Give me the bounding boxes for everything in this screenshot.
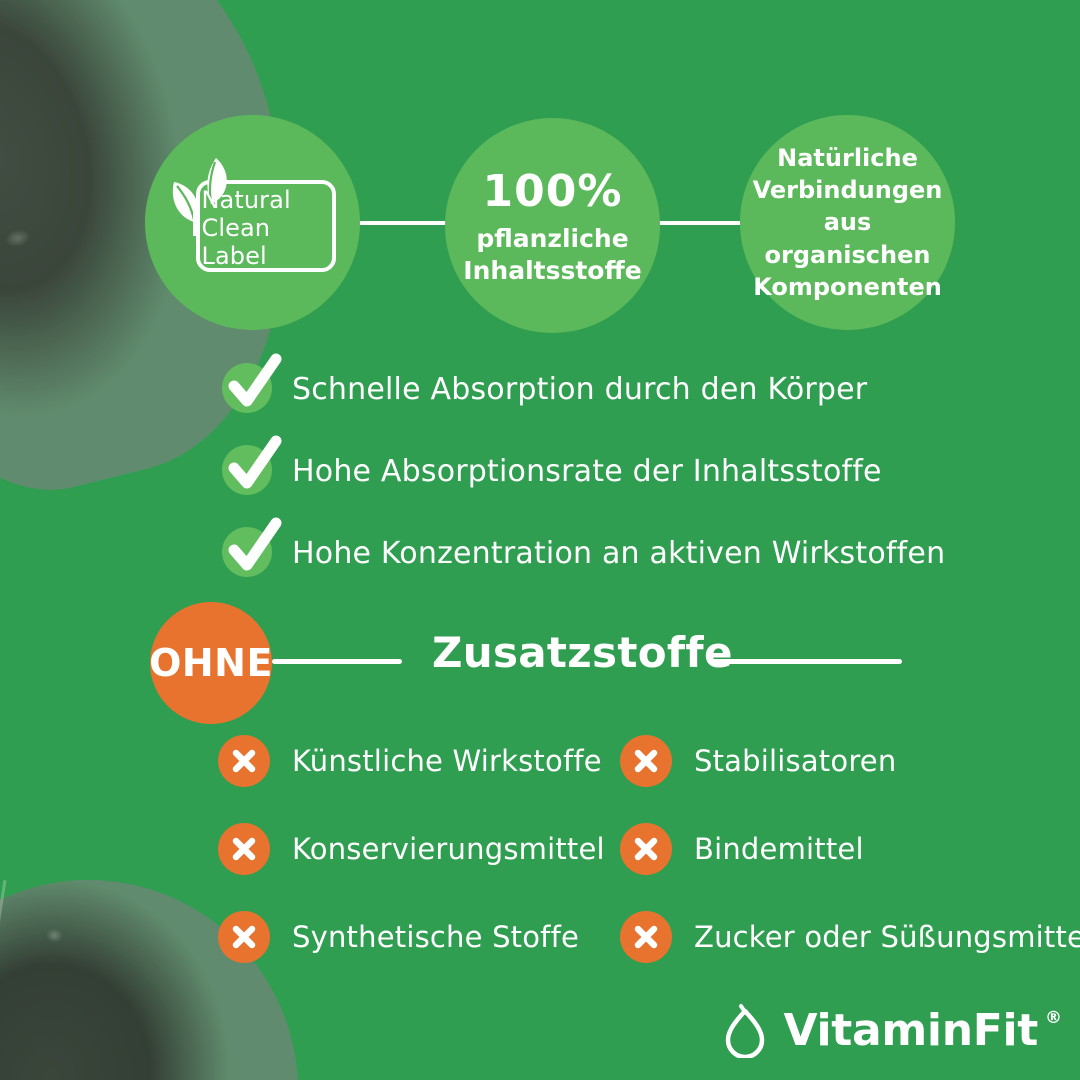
excluded-label: Zucker oder Süßungsmittel — [694, 920, 1080, 954]
x-disc — [620, 823, 672, 875]
brand-name: VitaminFit — [783, 1005, 1038, 1056]
divider-line-left — [272, 659, 402, 664]
without-section-title: Zusatzstoffe — [432, 628, 733, 677]
excluded-row: Künstliche Wirkstoffe Stabilisatoren — [0, 735, 1080, 823]
x-disc — [218, 735, 270, 787]
water-drop-icon — [719, 1002, 771, 1058]
benefit-label: Hohe Absorptionsrate der Inhaltsstoffe — [292, 454, 882, 489]
benefit-row: Schnelle Absorption durch den Körper — [0, 348, 1080, 430]
benefit-label: Schnelle Absorption durch den Körper — [292, 372, 867, 407]
compounds-line-3: aus organischen — [748, 206, 948, 270]
excluded-row: Synthetische Stoffe Zucker oder Süßungsm… — [0, 911, 1080, 999]
circle-natural-clean-label: Natural Clean Label — [145, 115, 360, 330]
connector-line-2 — [655, 221, 745, 225]
feature-circle-row: Natural Clean Label 100% pflanzliche Inh… — [0, 0, 1080, 350]
excluded-item: Künstliche Wirkstoffe — [218, 735, 602, 787]
plant-based-content: 100% pflanzliche Inhaltsstoffe — [463, 164, 641, 287]
check-icon — [224, 516, 284, 580]
excluded-label: Bindemittel — [694, 832, 864, 866]
benefit-row: Hohe Konzentration an aktiven Wirkstoffe… — [0, 512, 1080, 594]
ohne-badge: OHNE — [150, 602, 272, 724]
compounds-line-4: Komponenten — [748, 271, 948, 303]
x-disc — [620, 735, 672, 787]
compounds-line-1: Natürliche — [748, 142, 948, 174]
x-icon — [229, 922, 259, 952]
percent-sub-line-2: Inhaltsstoffe — [463, 255, 641, 287]
natural-compounds-content: Natürliche Verbindungen aus organischen … — [748, 142, 948, 303]
badge-text: Natural Clean Label — [202, 186, 330, 271]
badge-line-1: Natural — [202, 186, 330, 214]
compounds-line-2: Verbindungen — [748, 174, 948, 206]
brand-logo: VitaminFit ® — [719, 1002, 1062, 1058]
x-disc — [218, 823, 270, 875]
excluded-item: Synthetische Stoffe — [218, 911, 579, 963]
excluded-item: Stabilisatoren — [620, 735, 896, 787]
trademark-symbol: ® — [1045, 1008, 1062, 1028]
divider-line-right — [710, 659, 902, 664]
excluded-item: Bindemittel — [620, 823, 864, 875]
x-icon — [229, 834, 259, 864]
connector-line-1 — [355, 221, 450, 225]
x-icon — [631, 834, 661, 864]
benefits-list: Schnelle Absorption durch den Körper Hoh… — [0, 348, 1080, 594]
excluded-label: Synthetische Stoffe — [292, 920, 579, 954]
circle-natural-compounds: Natürliche Verbindungen aus organischen … — [740, 115, 955, 330]
excluded-row: Konservierungsmittel Bindemittel — [0, 823, 1080, 911]
check-icon — [224, 434, 284, 498]
excluded-item: Konservierungsmittel — [218, 823, 605, 875]
percent-sub-line-1: pflanzliche — [463, 223, 641, 255]
x-icon — [229, 746, 259, 776]
ohne-badge-label: OHNE — [149, 641, 273, 685]
x-disc — [218, 911, 270, 963]
excluded-item: Zucker oder Süßungsmittel — [620, 911, 1080, 963]
x-disc — [620, 911, 672, 963]
excluded-label: Stabilisatoren — [694, 744, 896, 778]
x-icon — [631, 922, 661, 952]
x-icon — [631, 746, 661, 776]
natural-clean-label-badge: Natural Clean Label — [158, 158, 348, 288]
circle-plant-based: 100% pflanzliche Inhaltsstoffe — [445, 118, 660, 333]
excluded-label: Konservierungsmittel — [292, 832, 605, 866]
benefit-row: Hohe Absorptionsrate der Inhaltsstoffe — [0, 430, 1080, 512]
check-icon — [224, 352, 284, 416]
excluded-label: Künstliche Wirkstoffe — [292, 744, 602, 778]
without-section-header: OHNE Zusatzstoffe — [0, 598, 1080, 728]
benefit-label: Hohe Konzentration an aktiven Wirkstoffe… — [292, 536, 945, 571]
badge-line-2: Clean Label — [202, 214, 330, 271]
percent-value: 100% — [463, 164, 641, 219]
excluded-ingredients-grid: Künstliche Wirkstoffe Stabilisatoren Kon… — [0, 735, 1080, 999]
